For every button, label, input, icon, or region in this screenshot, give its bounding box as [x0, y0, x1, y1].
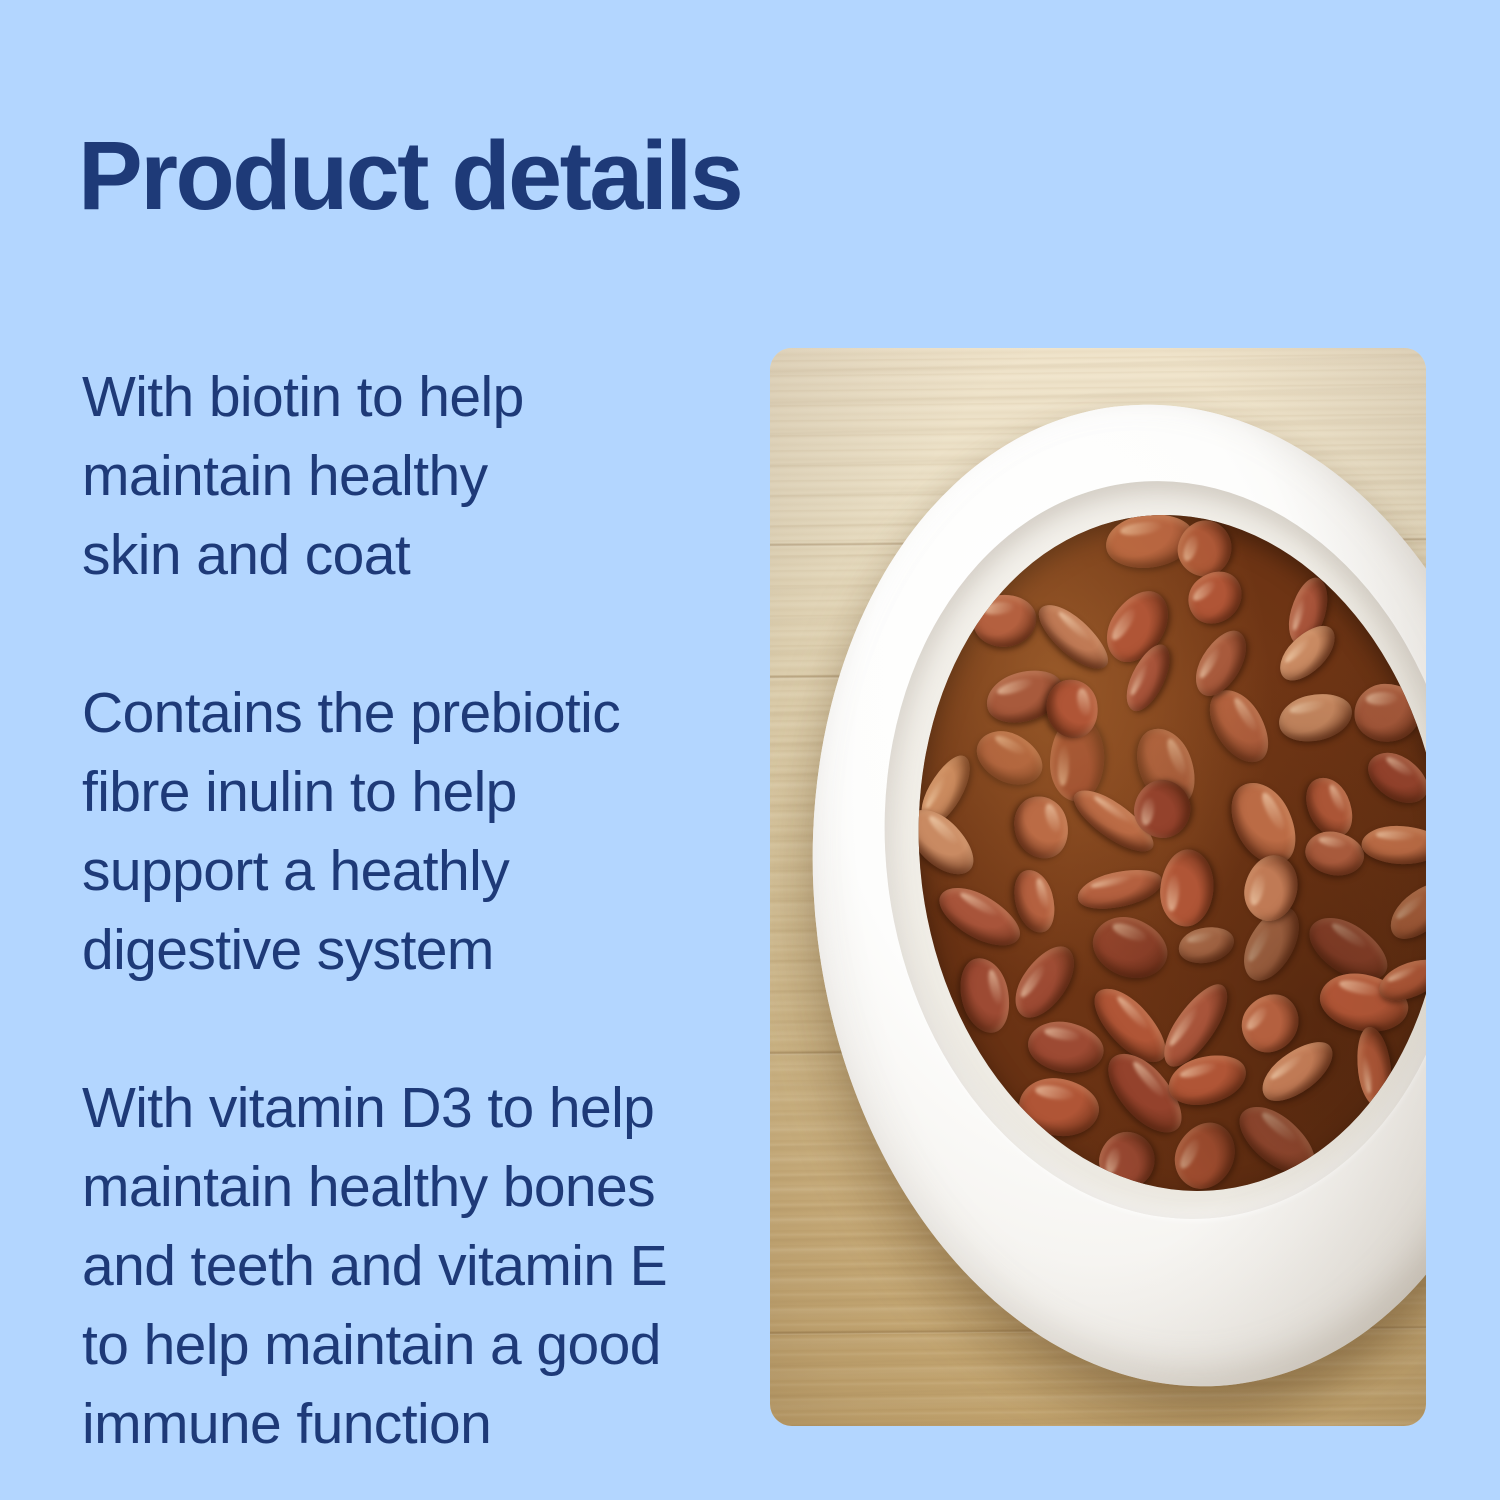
feature-line: With biotin to help: [82, 358, 702, 437]
food-chunk: [1029, 594, 1117, 679]
feature-line: maintain healthy bones: [82, 1148, 702, 1227]
feature-line: immune function: [82, 1385, 702, 1464]
feature-line: skin and coat: [82, 516, 702, 595]
feature-line: and teeth and vitamin E: [82, 1227, 702, 1306]
product-photo: [770, 348, 1426, 1426]
food-chunk: [1025, 1016, 1109, 1079]
food-chunk: [1301, 827, 1368, 881]
food-chunk: [1176, 922, 1238, 968]
feature-line: to help maintain a good: [82, 1306, 702, 1385]
food-chunk: [1186, 622, 1257, 704]
food-chunk: [1006, 789, 1076, 865]
feature-list: With biotin to help maintain healthy ski…: [82, 358, 702, 1464]
feature-line: maintain healthy: [82, 437, 702, 516]
food-chunk: [1360, 743, 1426, 814]
feature-item-biotin-skin-coat: With biotin to help maintain healthy ski…: [82, 358, 702, 595]
feature-line: Contains the prebiotic: [82, 674, 702, 753]
food-chunk: [968, 720, 1051, 794]
food-chunk: [1004, 937, 1086, 1028]
food-chunk: [1381, 872, 1426, 949]
food-chunk: [1361, 824, 1426, 865]
feature-line: With vitamin D3 to help: [82, 1069, 702, 1148]
feature-line: digestive system: [82, 911, 702, 990]
page-title: Product details: [78, 127, 741, 224]
feature-item-prebiotic-inulin-digestive: Contains the prebiotic fibre inulin to h…: [82, 674, 702, 990]
food-chunk: [1275, 688, 1357, 748]
food-chunk: [1084, 907, 1176, 988]
food-chunk: [1157, 847, 1216, 928]
product-details-page: Product details With biotin to help main…: [0, 0, 1500, 1500]
feature-line: fibre inulin to help: [82, 753, 702, 832]
feature-line: support a heathly: [82, 832, 702, 911]
food-chunk: [1075, 863, 1166, 915]
feature-item-vitamin-d3-e-bones-immune: With vitamin D3 to help maintain healthy…: [82, 1069, 702, 1464]
